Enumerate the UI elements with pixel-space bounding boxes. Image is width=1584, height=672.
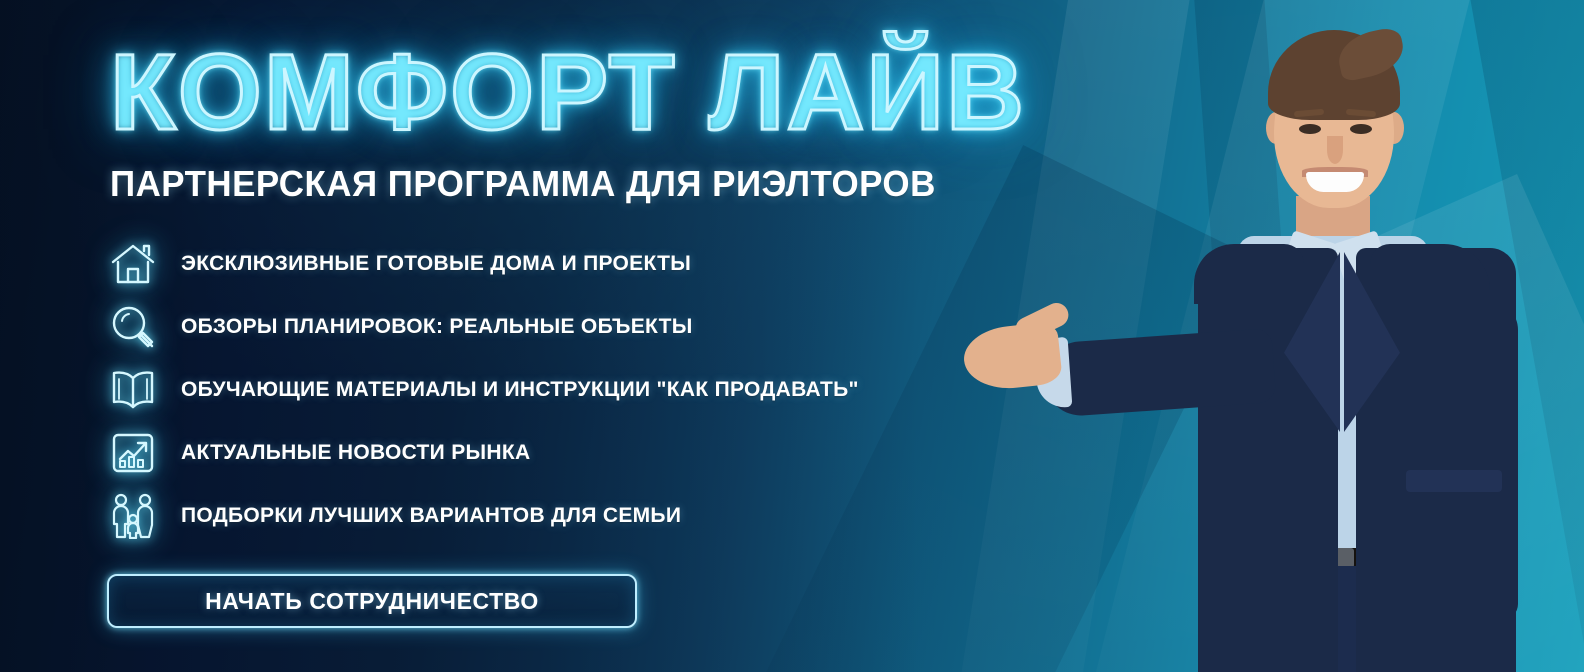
shoulder-right (1370, 244, 1490, 304)
feature-label: ЭКСКЛЮЗИВНЫЕ ГОТОВЫЕ ДОМА И ПРОЕКТЫ (181, 252, 691, 276)
shoulder-left (1194, 244, 1304, 304)
banner-subtitle: ПАРТНЕРСКАЯ ПРОГРАММА ДЛЯ РИЭЛТОРОВ (110, 163, 936, 205)
smile (1306, 172, 1364, 192)
eye-left (1299, 124, 1321, 134)
feature-label: АКТУАЛЬНЫЕ НОВОСТИ РЫНКА (181, 441, 530, 465)
house-icon (105, 239, 161, 289)
feature-list: ЭКСКЛЮЗИВНЫЕ ГОТОВЫЕ ДОМА И ПРОЕКТЫ ОБЗО… (105, 232, 859, 547)
feature-item-family: ПОДБОРКИ ЛУЧШИХ ВАРИАНТОВ ДЛЯ СЕМЬИ (105, 484, 859, 547)
feature-item-layouts: ОБЗОРЫ ПЛАНИРОВОК: РЕАЛЬНЫЕ ОБЪЕКТЫ (105, 295, 859, 358)
feature-item-news: АКТУАЛЬНЫЕ НОВОСТИ РЫНКА (105, 421, 859, 484)
family-icon (105, 491, 161, 541)
feature-label: ОБЗОРЫ ПЛАНИРОВОК: РЕАЛЬНЫЕ ОБЪЕКТЫ (181, 315, 693, 339)
search-icon (105, 302, 161, 352)
eye-right (1350, 124, 1372, 134)
nose (1327, 136, 1343, 164)
pocket-flap (1406, 470, 1502, 492)
feature-item-materials: ОБУЧАЮЩИЕ МАТЕРИАЛЫ И ИНСТРУКЦИИ "КАК ПР… (105, 358, 859, 421)
book-icon (105, 365, 161, 415)
chart-icon (105, 428, 161, 478)
banner-title: КОМФОРТ ЛАЙВ (110, 38, 1026, 146)
jacket-right (1356, 248, 1516, 672)
feature-label: ПОДБОРКИ ЛУЧШИХ ВАРИАНТОВ ДЛЯ СЕМЬИ (181, 504, 681, 528)
feature-label: ОБУЧАЮЩИЕ МАТЕРИАЛЫ И ИНСТРУКЦИИ "КАК ПР… (181, 378, 859, 402)
banner-content: КОМФОРТ ЛАЙВ ПАРТНЕРСКАЯ ПРОГРАММА ДЛЯ Р… (105, 0, 1065, 672)
start-cooperation-button[interactable]: НАЧАТЬ СОТРУДНИЧЕСТВО (107, 574, 637, 628)
promo-banner: КОМФОРТ ЛАЙВ ПАРТНЕРСКАЯ ПРОГРАММА ДЛЯ Р… (0, 0, 1584, 672)
feature-item-houses: ЭКСКЛЮЗИВНЫЕ ГОТОВЫЕ ДОМА И ПРОЕКТЫ (105, 232, 859, 295)
presenter-photo (1088, 0, 1558, 672)
